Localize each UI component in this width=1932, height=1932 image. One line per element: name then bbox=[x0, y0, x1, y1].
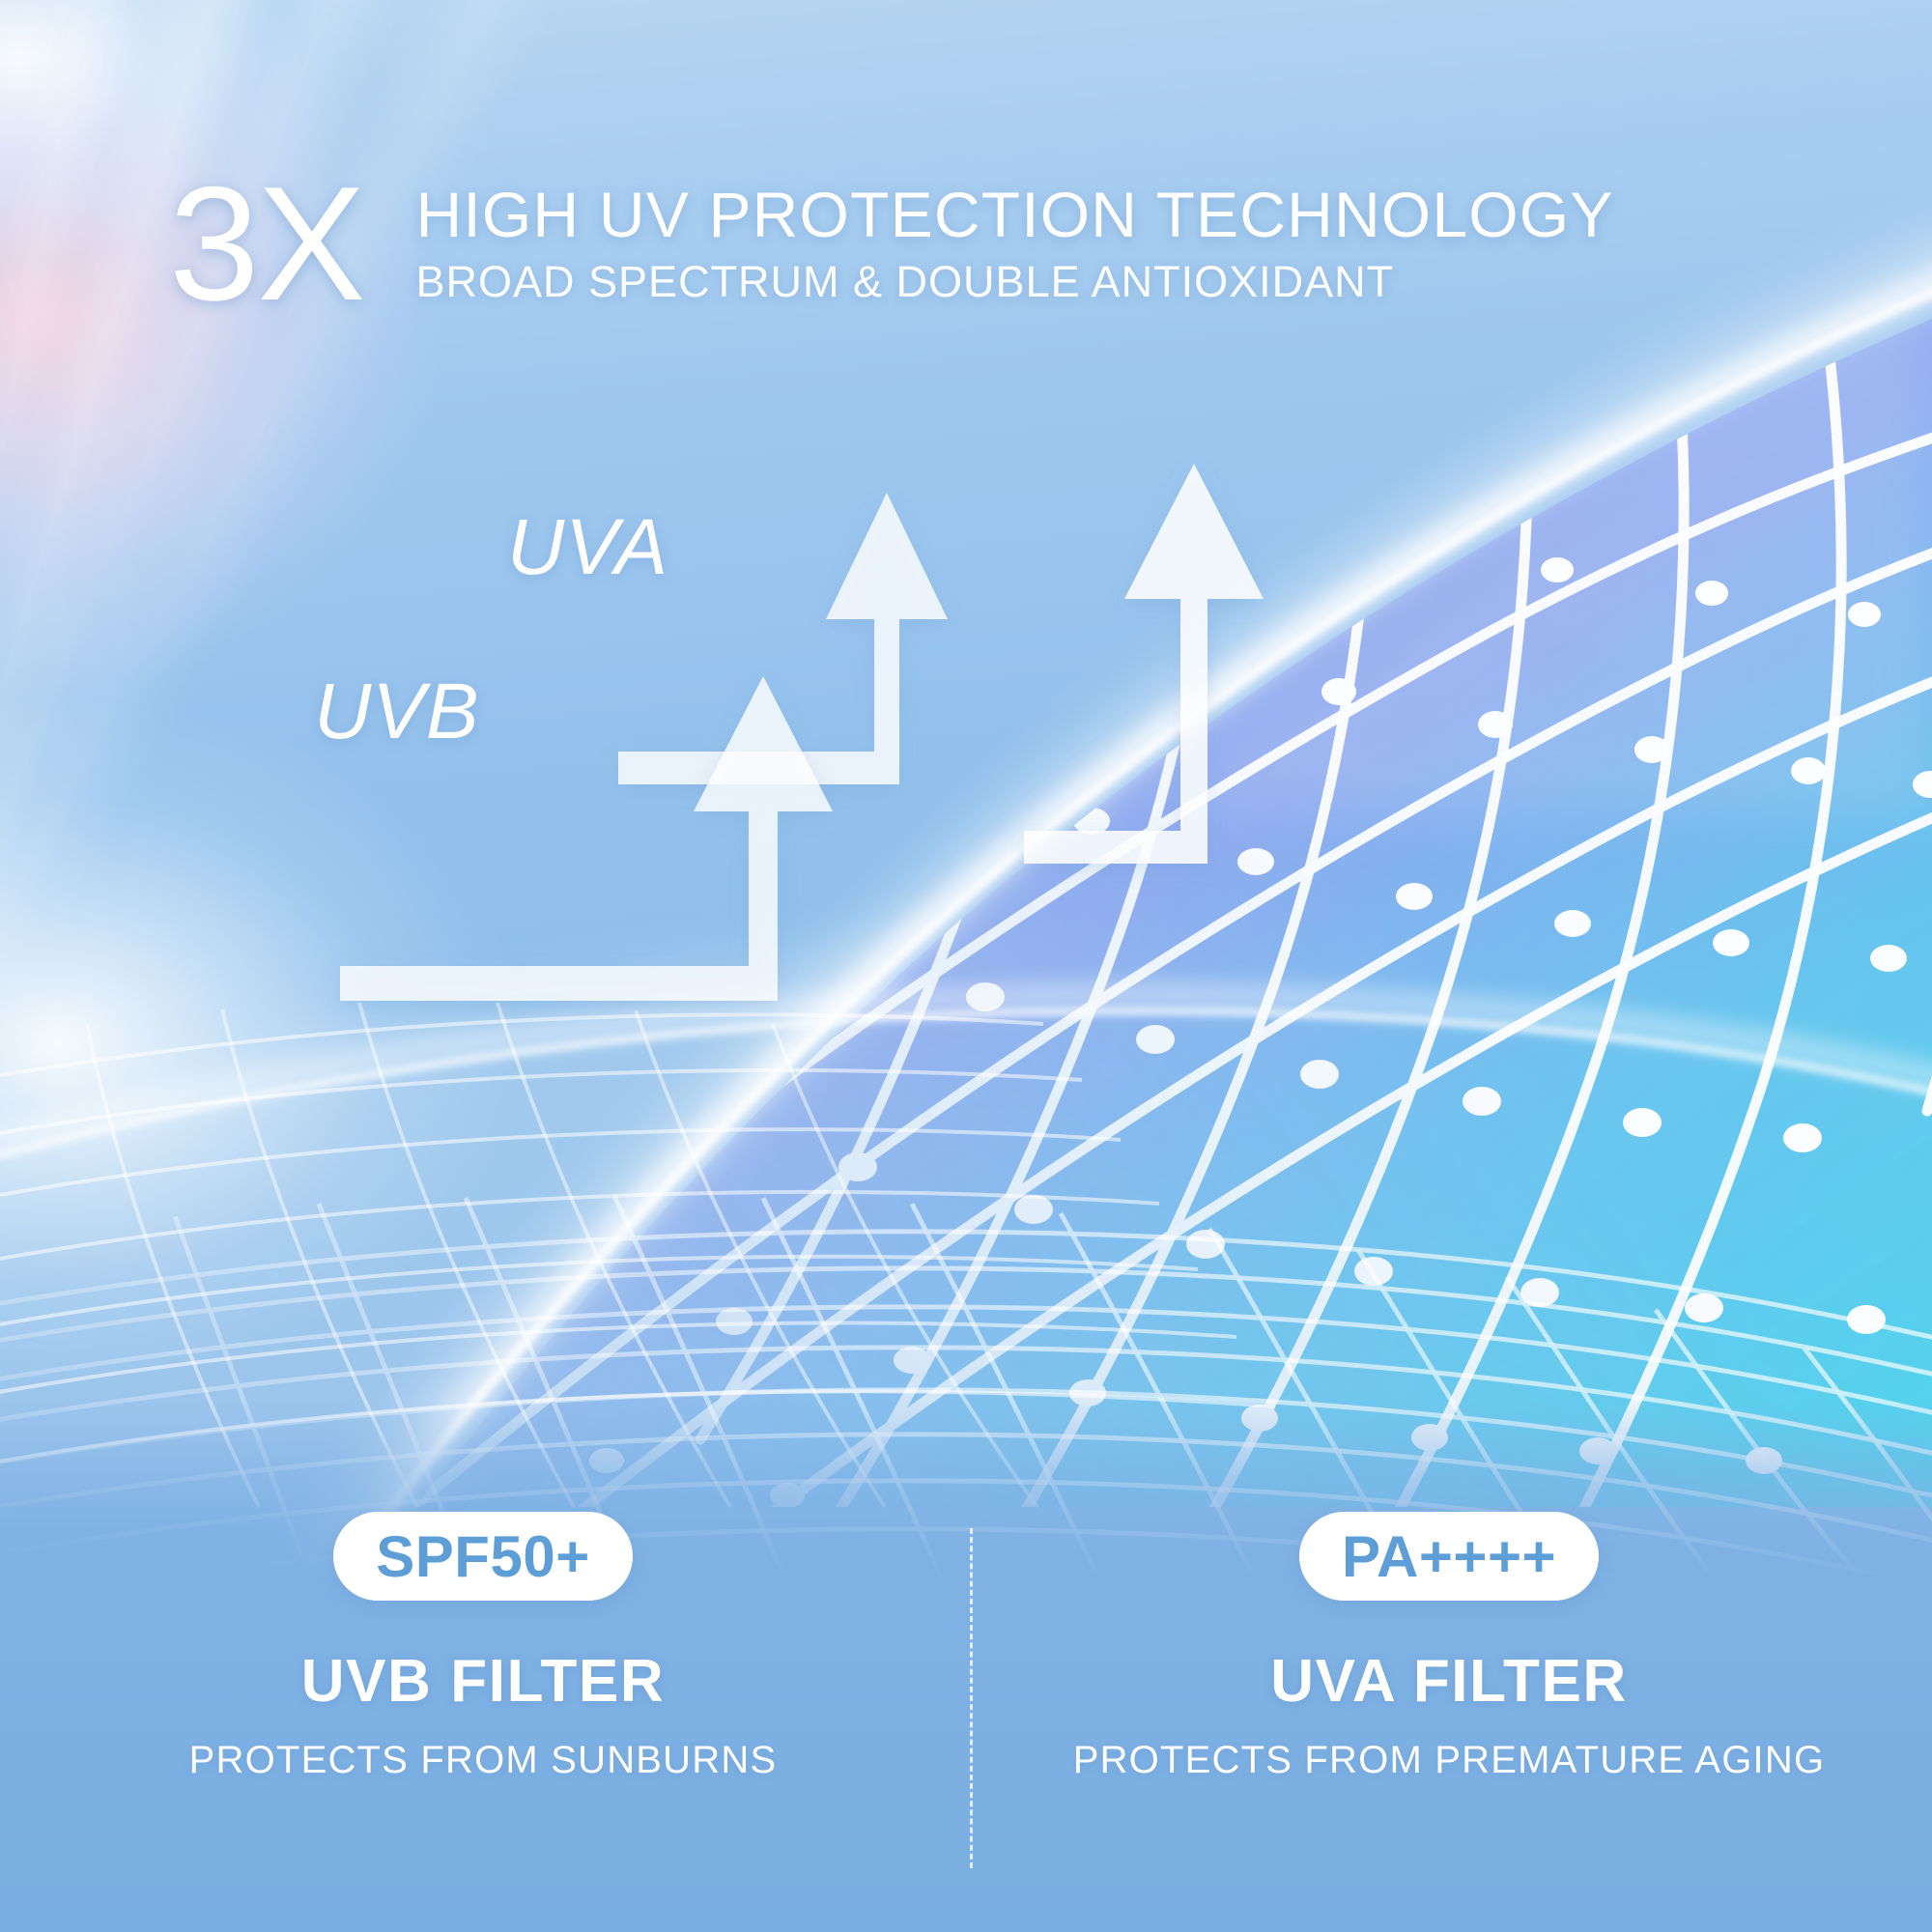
feature-description: PROTECTS FROM PREMATURE AGING bbox=[1073, 1739, 1826, 1782]
feature-uva: PA++++ UVA FILTER PROTECTS FROM PREMATUR… bbox=[966, 1512, 1932, 1782]
headline-block: 3X HIGH UV PROTECTION TECHNOLOGY BROAD S… bbox=[169, 169, 1614, 316]
feature-description: PROTECTS FROM SUNBURNS bbox=[189, 1739, 778, 1782]
status-badge-spf: SPF50+ bbox=[333, 1512, 633, 1601]
feature-uvb: SPF50+ UVB FILTER PROTECTS FROM SUNBURNS bbox=[0, 1512, 966, 1782]
page-title: HIGH UV PROTECTION TECHNOLOGY bbox=[416, 183, 1614, 246]
ray-label-uvb: UVB bbox=[314, 667, 480, 757]
badge-label: SPF50+ bbox=[376, 1523, 589, 1590]
multiplier-badge: 3X bbox=[169, 173, 364, 316]
page-subtitle: BROAD SPECTRUM & DOUBLE ANTIOXIDANT bbox=[416, 260, 1614, 303]
ray-label-uva: UVA bbox=[507, 502, 668, 593]
uv-protection-infographic: 3X HIGH UV PROTECTION TECHNOLOGY BROAD S… bbox=[0, 0, 1932, 1932]
status-badge-pa: PA++++ bbox=[1299, 1512, 1599, 1601]
feature-title: UVB FILTER bbox=[301, 1647, 666, 1716]
feature-row: SPF50+ UVB FILTER PROTECTS FROM SUNBURNS… bbox=[0, 1512, 1932, 1898]
badge-label: PA++++ bbox=[1342, 1523, 1556, 1590]
feature-title: UVA FILTER bbox=[1270, 1647, 1628, 1716]
